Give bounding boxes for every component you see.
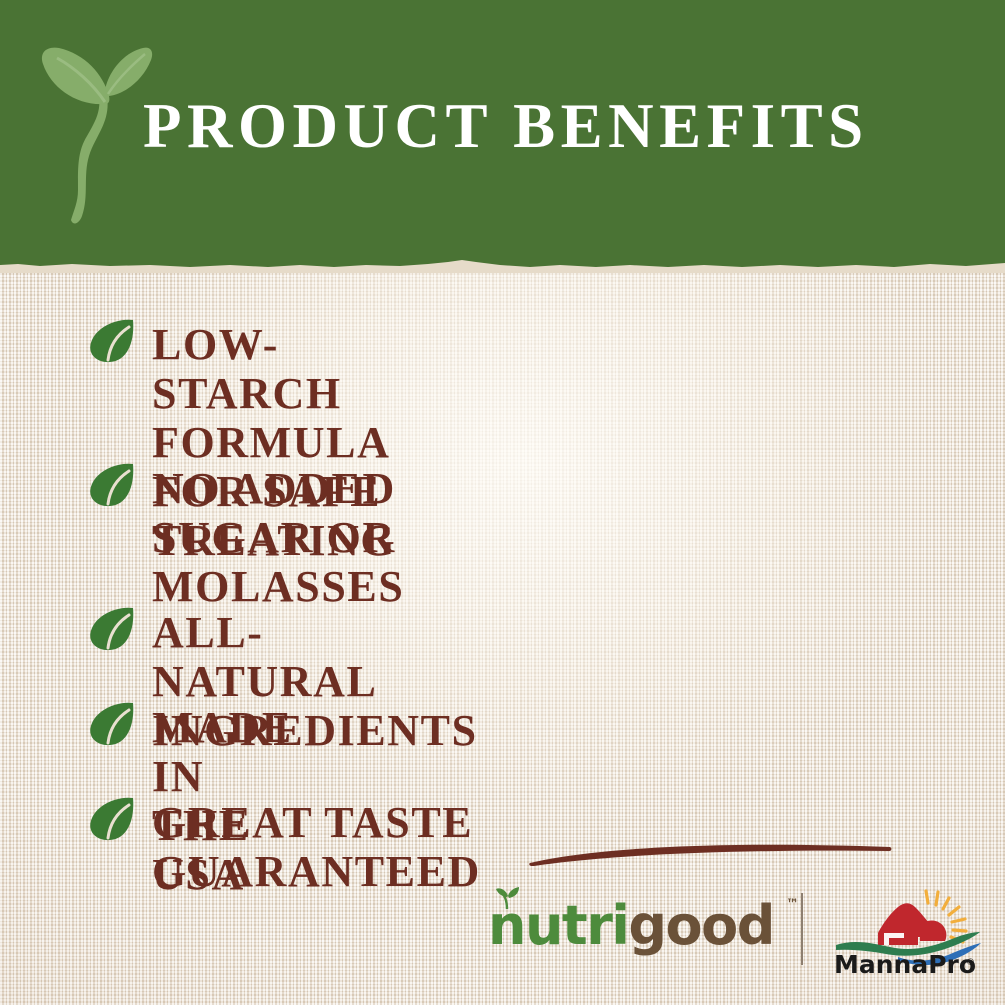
page-title: PRODUCT BENEFITS xyxy=(143,95,869,158)
header-banner: PRODUCT BENEFITS xyxy=(0,0,1005,271)
leaf-icon xyxy=(88,318,136,364)
trademark-symbol: ™ xyxy=(786,897,799,912)
footer-logos: nutrigood ™ xyxy=(470,893,980,973)
benefit-label: GREAT TASTE GUARANTEED xyxy=(152,798,481,896)
nutrigood-wordmark: nutrigood xyxy=(488,895,774,957)
mannapro-logo: MannaPro ® xyxy=(832,889,982,975)
leaf-icon xyxy=(88,606,136,652)
registered-symbol: ® xyxy=(966,958,975,968)
barn-icon xyxy=(878,903,946,945)
logo-divider xyxy=(801,893,803,965)
torn-edge-divider xyxy=(0,259,1005,273)
sprout-leaf-icon xyxy=(494,887,522,909)
nutrigood-good-text: good xyxy=(628,894,774,957)
mannapro-wordmark: MannaPro xyxy=(834,950,976,975)
product-benefits-panel: PRODUCT BENEFITS LOW-STARCH FORMULA FOR … xyxy=(0,0,1005,1005)
leaf-icon xyxy=(88,796,136,842)
sprout-icon xyxy=(33,44,153,227)
brush-underline-accent xyxy=(528,838,893,866)
leaf-icon xyxy=(88,701,136,747)
benefit-label: NO ADDED SUGAR OR MOLASSES xyxy=(152,464,404,611)
leaf-icon xyxy=(88,462,136,508)
